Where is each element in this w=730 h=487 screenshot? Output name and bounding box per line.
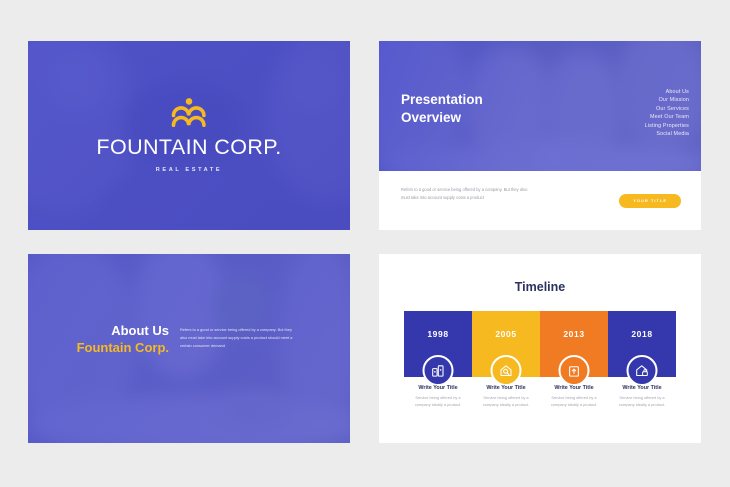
menu-item-social-media[interactable]: Social Media	[645, 130, 689, 138]
menu-item-listing-properties[interactable]: Listing Properties	[645, 122, 689, 130]
house-upload-icon	[567, 363, 582, 378]
fountain-people-logo-icon	[170, 98, 208, 128]
menu-item-our-mission[interactable]: Our Mission	[645, 96, 689, 104]
timeline-caption-2013: Write Your Title Service being offered b…	[540, 385, 608, 409]
about-body-text: Refers to a good or service being offere…	[180, 323, 298, 350]
timeline-icon-circle-1998[interactable]	[423, 355, 454, 386]
timeline-caption-desc-1998: Service being offered by a company ideal…	[408, 395, 468, 409]
timeline-caption-title-2005: Write Your Title	[476, 385, 536, 391]
timeline-caption-title-1998: Write Your Title	[408, 385, 468, 391]
slide-timeline[interactable]: Timeline 1998 2005	[379, 254, 701, 443]
about-title-primary: About Us	[28, 323, 169, 340]
timeline-icon-circle-2013[interactable]	[559, 355, 590, 386]
overview-heading: Presentation Overview	[401, 91, 483, 127]
slide-about-us[interactable]: About Us Fountain Corp. Refers to a good…	[28, 254, 350, 443]
timeline-bar-1998[interactable]: 1998	[404, 311, 472, 377]
timeline-caption-title-2013: Write Your Title	[544, 385, 604, 391]
timeline-bar-2013[interactable]: 2013	[540, 311, 608, 377]
about-title-secondary: Fountain Corp.	[28, 340, 169, 357]
overview-menu: About Us Our Mission Our Services Meet O…	[645, 88, 689, 138]
overview-heading-line2: Overview	[401, 109, 483, 127]
brand-name: FOUNTAIN CORP.	[96, 137, 281, 159]
timeline-caption-1998: Write Your Title Service being offered b…	[404, 385, 472, 409]
house-lock-icon	[635, 363, 650, 378]
timeline-caption-2018: Write Your Title Service being offered b…	[608, 385, 676, 409]
overview-cta-button[interactable]: YOUR TITLE	[619, 194, 681, 208]
brand-subtitle: REAL ESTATE	[156, 167, 223, 173]
timeline-caption-desc-2013: Service being offered by a company ideal…	[544, 395, 604, 409]
house-search-icon	[499, 363, 514, 378]
buildings-icon	[431, 363, 446, 378]
slide-overview[interactable]: Presentation Overview About Us Our Missi…	[379, 41, 701, 230]
overview-body-text: Refers to a good or service being offere…	[401, 186, 531, 202]
timeline-title: Timeline	[379, 280, 701, 294]
overview-heading-line1: Presentation	[401, 91, 483, 109]
slide-preview-grid: FOUNTAIN CORP. REAL ESTATE Presentation …	[0, 0, 730, 487]
about-title-group: About Us Fountain Corp.	[28, 323, 180, 357]
timeline-caption-2005: Write Your Title Service being offered b…	[472, 385, 540, 409]
timeline-captions: Write Your Title Service being offered b…	[404, 385, 676, 409]
timeline-caption-desc-2005: Service being offered by a company ideal…	[476, 395, 536, 409]
timeline-caption-desc-2018: Service being offered by a company ideal…	[612, 395, 672, 409]
timeline-icon-circle-2018[interactable]	[627, 355, 658, 386]
slide-title[interactable]: FOUNTAIN CORP. REAL ESTATE	[28, 41, 350, 230]
menu-item-our-services[interactable]: Our Services	[645, 105, 689, 113]
timeline-icon-circle-2005[interactable]	[491, 355, 522, 386]
timeline-bar-2005[interactable]: 2005	[472, 311, 540, 377]
timeline-bars: 1998 2005	[404, 311, 676, 377]
timeline-caption-title-2018: Write Your Title	[612, 385, 672, 391]
timeline-bar-2018[interactable]: 2018	[608, 311, 676, 377]
menu-item-meet-our-team[interactable]: Meet Our Team	[645, 113, 689, 121]
menu-item-about-us[interactable]: About Us	[645, 88, 689, 96]
